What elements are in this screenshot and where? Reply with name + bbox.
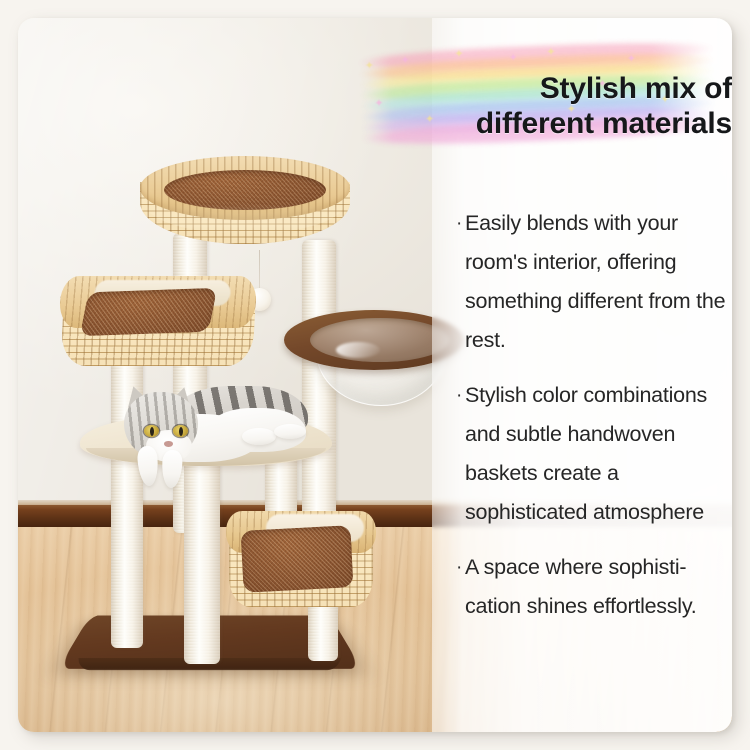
cat: [114, 384, 314, 488]
sparkle-icon: ✦: [546, 47, 556, 58]
page-title: Stylish mix of different materials: [406, 72, 732, 142]
cat-front-paw-left: [137, 445, 160, 486]
feature-bullet-list: · Easily blends with your room's interio…: [456, 204, 732, 642]
list-item: · A space where sophisti-​cation shines …: [456, 548, 732, 626]
cat-pupil-right: [179, 427, 183, 436]
sparkle-icon: ✦: [627, 54, 637, 65]
second-basket-mat: [80, 288, 217, 336]
list-item: · Stylish color combinations and subtle …: [456, 376, 732, 532]
bullet-marker: ·: [456, 548, 465, 587]
bullet-text: A space where sophisti-​cation shines ef…: [465, 548, 732, 626]
list-item: · Easily blends with your room's interio…: [456, 204, 732, 360]
second-basket-rim: [59, 276, 258, 328]
screenshot-root: ✦✦✦✦✦✦✦✦✦✦✦✦ Stylish mix of different ma…: [0, 0, 750, 750]
lower-basket-rim: [226, 511, 376, 553]
bullet-marker: ·: [456, 376, 465, 415]
bullet-text: Easily blends with your room's interior,…: [465, 204, 732, 360]
title-line-2: different materials: [406, 107, 732, 142]
cat-eye-left: [144, 425, 159, 437]
cat-front-paw-right: [161, 450, 183, 489]
bullet-text: Stylish color combinations and subtle ha…: [465, 376, 732, 532]
cat-hind-paw-a: [242, 428, 276, 445]
title-line-1: Stylish mix of: [540, 72, 732, 105]
top-basket-rim: [140, 156, 350, 220]
sparkle-icon: ✦: [508, 53, 518, 64]
lower-basket-mat: [240, 525, 353, 593]
headline-block: ✦✦✦✦✦✦✦✦✦✦✦✦ Stylish mix of different ma…: [354, 40, 732, 150]
top-basket-mat: [164, 170, 326, 210]
product-feature-card: ✦✦✦✦✦✦✦✦✦✦✦✦ Stylish mix of different ma…: [18, 18, 732, 732]
pom-pom-string: [259, 250, 260, 292]
bullet-marker: ·: [456, 204, 465, 243]
sparkle-icon: ✦: [454, 49, 464, 60]
sparkle-icon: ✦: [374, 98, 384, 109]
lower-rattan-basket: [226, 511, 376, 621]
cat-head: [124, 392, 198, 458]
cat-eye-right: [173, 425, 188, 437]
cat-pupil-left: [150, 427, 154, 436]
bowl-ring-opening: [310, 318, 450, 362]
second-rattan-basket: [60, 276, 256, 372]
sparkle-icon: ✦: [365, 61, 375, 72]
cat-nose: [164, 441, 173, 447]
cat-hind-paw-b: [274, 424, 306, 439]
sparkle-icon: ✦: [400, 55, 410, 66]
top-rattan-basket: [140, 156, 350, 254]
bowl-highlight: [336, 342, 380, 358]
